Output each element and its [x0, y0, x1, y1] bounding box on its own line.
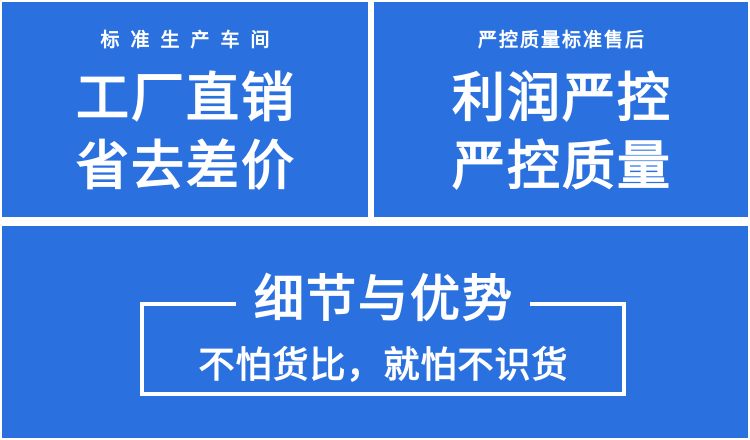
panel-factory-direct-headline-line2: 省去差价	[74, 140, 296, 193]
panel-factory-direct: 标准生产车间 工厂直销 省去差价	[2, 2, 368, 217]
panel-factory-direct-content: 标准生产车间 工厂直销 省去差价	[2, 2, 368, 217]
feature-subtitle-container: 不怕货比，就怕不识货	[197, 347, 568, 383]
panel-factory-direct-eyebrow: 标准生产车间	[89, 31, 280, 50]
feature-subtitle: 不怕货比，就怕不识货	[197, 347, 568, 383]
panel-factory-direct-headline-line1: 工厂直销	[74, 72, 296, 125]
panel-quality-control-headline-line2: 严控质量	[450, 140, 672, 193]
feature-frame: 细节与优势 不怕货比，就怕不识货	[140, 302, 626, 396]
panel-details-advantages: 细节与优势 不怕货比，就怕不识货	[2, 226, 748, 438]
feature-title-container: 细节与优势	[236, 274, 530, 324]
panel-quality-control-headline-line1: 利润严控	[450, 72, 672, 125]
panel-quality-control-content: 严控质量标准售后 利润严控 严控质量	[374, 2, 748, 217]
panel-quality-control-eyebrow: 严控质量标准售后	[476, 31, 646, 50]
panel-quality-control: 严控质量标准售后 利润严控 严控质量	[374, 2, 748, 217]
feature-title: 细节与优势	[252, 274, 514, 324]
promo-banner: 标准生产车间 工厂直销 省去差价 严控质量标准售后 利润严控 严控质量 细节与优…	[0, 0, 750, 440]
